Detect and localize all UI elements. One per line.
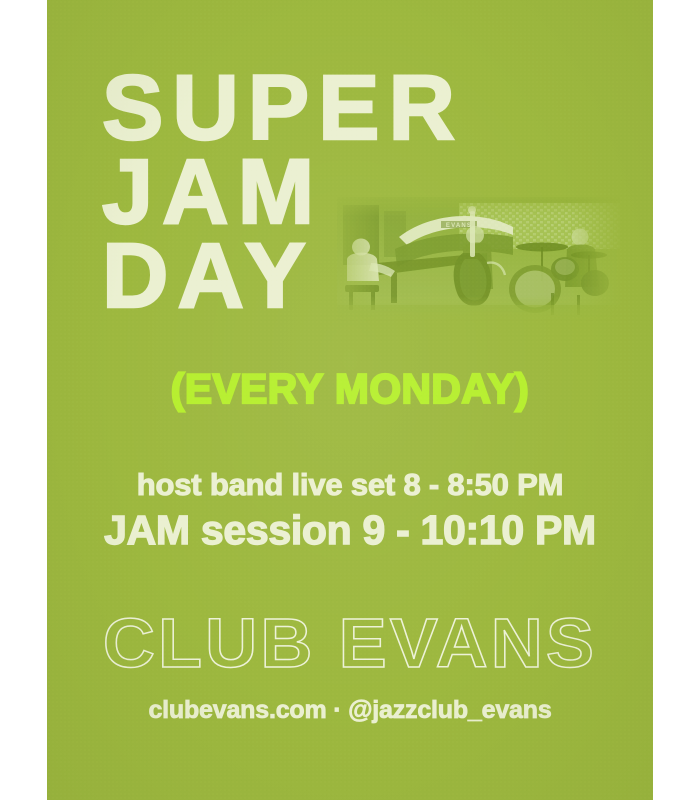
footer-contact: clubevans.com · @jazzclub_evans — [47, 694, 653, 726]
schedule-host-band-line: host band live set 8 - 8:50 PM — [47, 465, 653, 505]
poster-panel: EVANS — [47, 0, 653, 800]
headline-line-day: DAY — [102, 234, 315, 318]
schedule-block: host band live set 8 - 8:50 PM JAM sessi… — [47, 465, 653, 555]
poster-root: EVANS — [0, 0, 700, 800]
subtitle-every-monday: (EVERY MONDAY) — [56, 366, 644, 412]
headline-line-jam: JAM — [102, 150, 323, 234]
schedule-jam-session-line: JAM session 9 - 10:10 PM — [47, 505, 653, 555]
svg-text:EVANS: EVANS — [446, 223, 472, 229]
venue-name: CLUB EVANS — [47, 606, 653, 680]
jazz-trio-photo: EVANS — [337, 197, 620, 321]
headline-line-super: SUPER — [102, 66, 464, 150]
